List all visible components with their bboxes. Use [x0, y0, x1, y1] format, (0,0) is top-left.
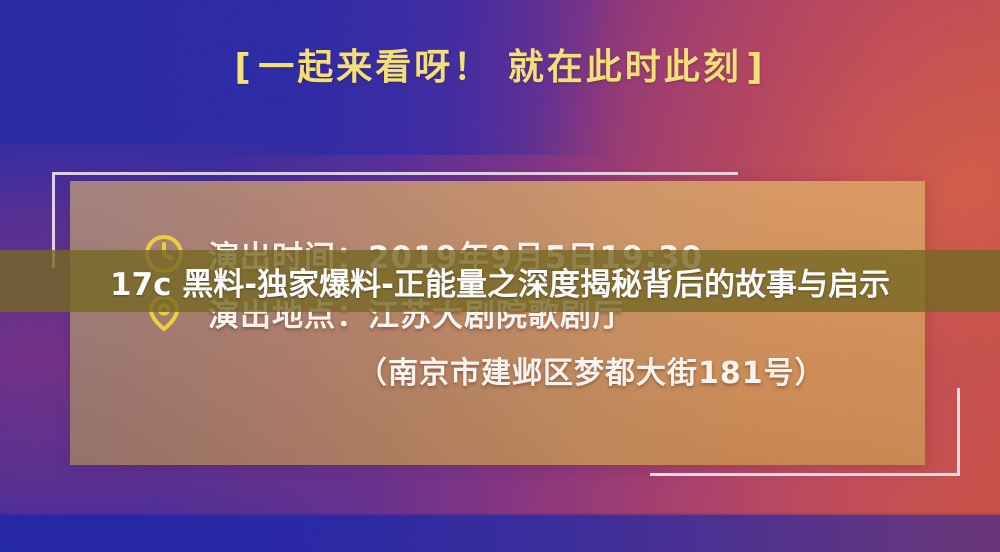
- background-footer-seam: [0, 513, 1000, 515]
- header-title: 一起来看呀！ 就在此时此刻: [258, 38, 742, 90]
- event-address-label: （南京市建邺区梦都大街181号）: [357, 348, 826, 392]
- header-bracket-close: ]: [746, 47, 765, 88]
- title-overlay: 17c 黑料-独家爆料-正能量之深度揭秘背后的故事与启示: [0, 250, 1000, 312]
- article-title: 17c 黑料-独家爆料-正能量之深度揭秘背后的故事与启示: [110, 259, 890, 304]
- poster-image: [ 一起来看呀！ 就在此时此刻 ] 演出时间：2019年9月5日19:30: [0, 0, 1000, 552]
- background-footer-band: [0, 515, 1000, 552]
- event-info-rows: 演出时间：2019年9月5日19:30 演出地点：江苏大剧院歌剧厅 （南京市建邺…: [70, 181, 925, 465]
- event-address-row: （南京市建邺区梦都大街181号）: [142, 341, 925, 399]
- poster-header: [ 一起来看呀！ 就在此时此刻 ]: [0, 38, 1000, 90]
- event-info-card: 演出时间：2019年9月5日19:30 演出地点：江苏大剧院歌剧厅 （南京市建邺…: [70, 181, 925, 465]
- header-bracket-open: [: [234, 47, 253, 88]
